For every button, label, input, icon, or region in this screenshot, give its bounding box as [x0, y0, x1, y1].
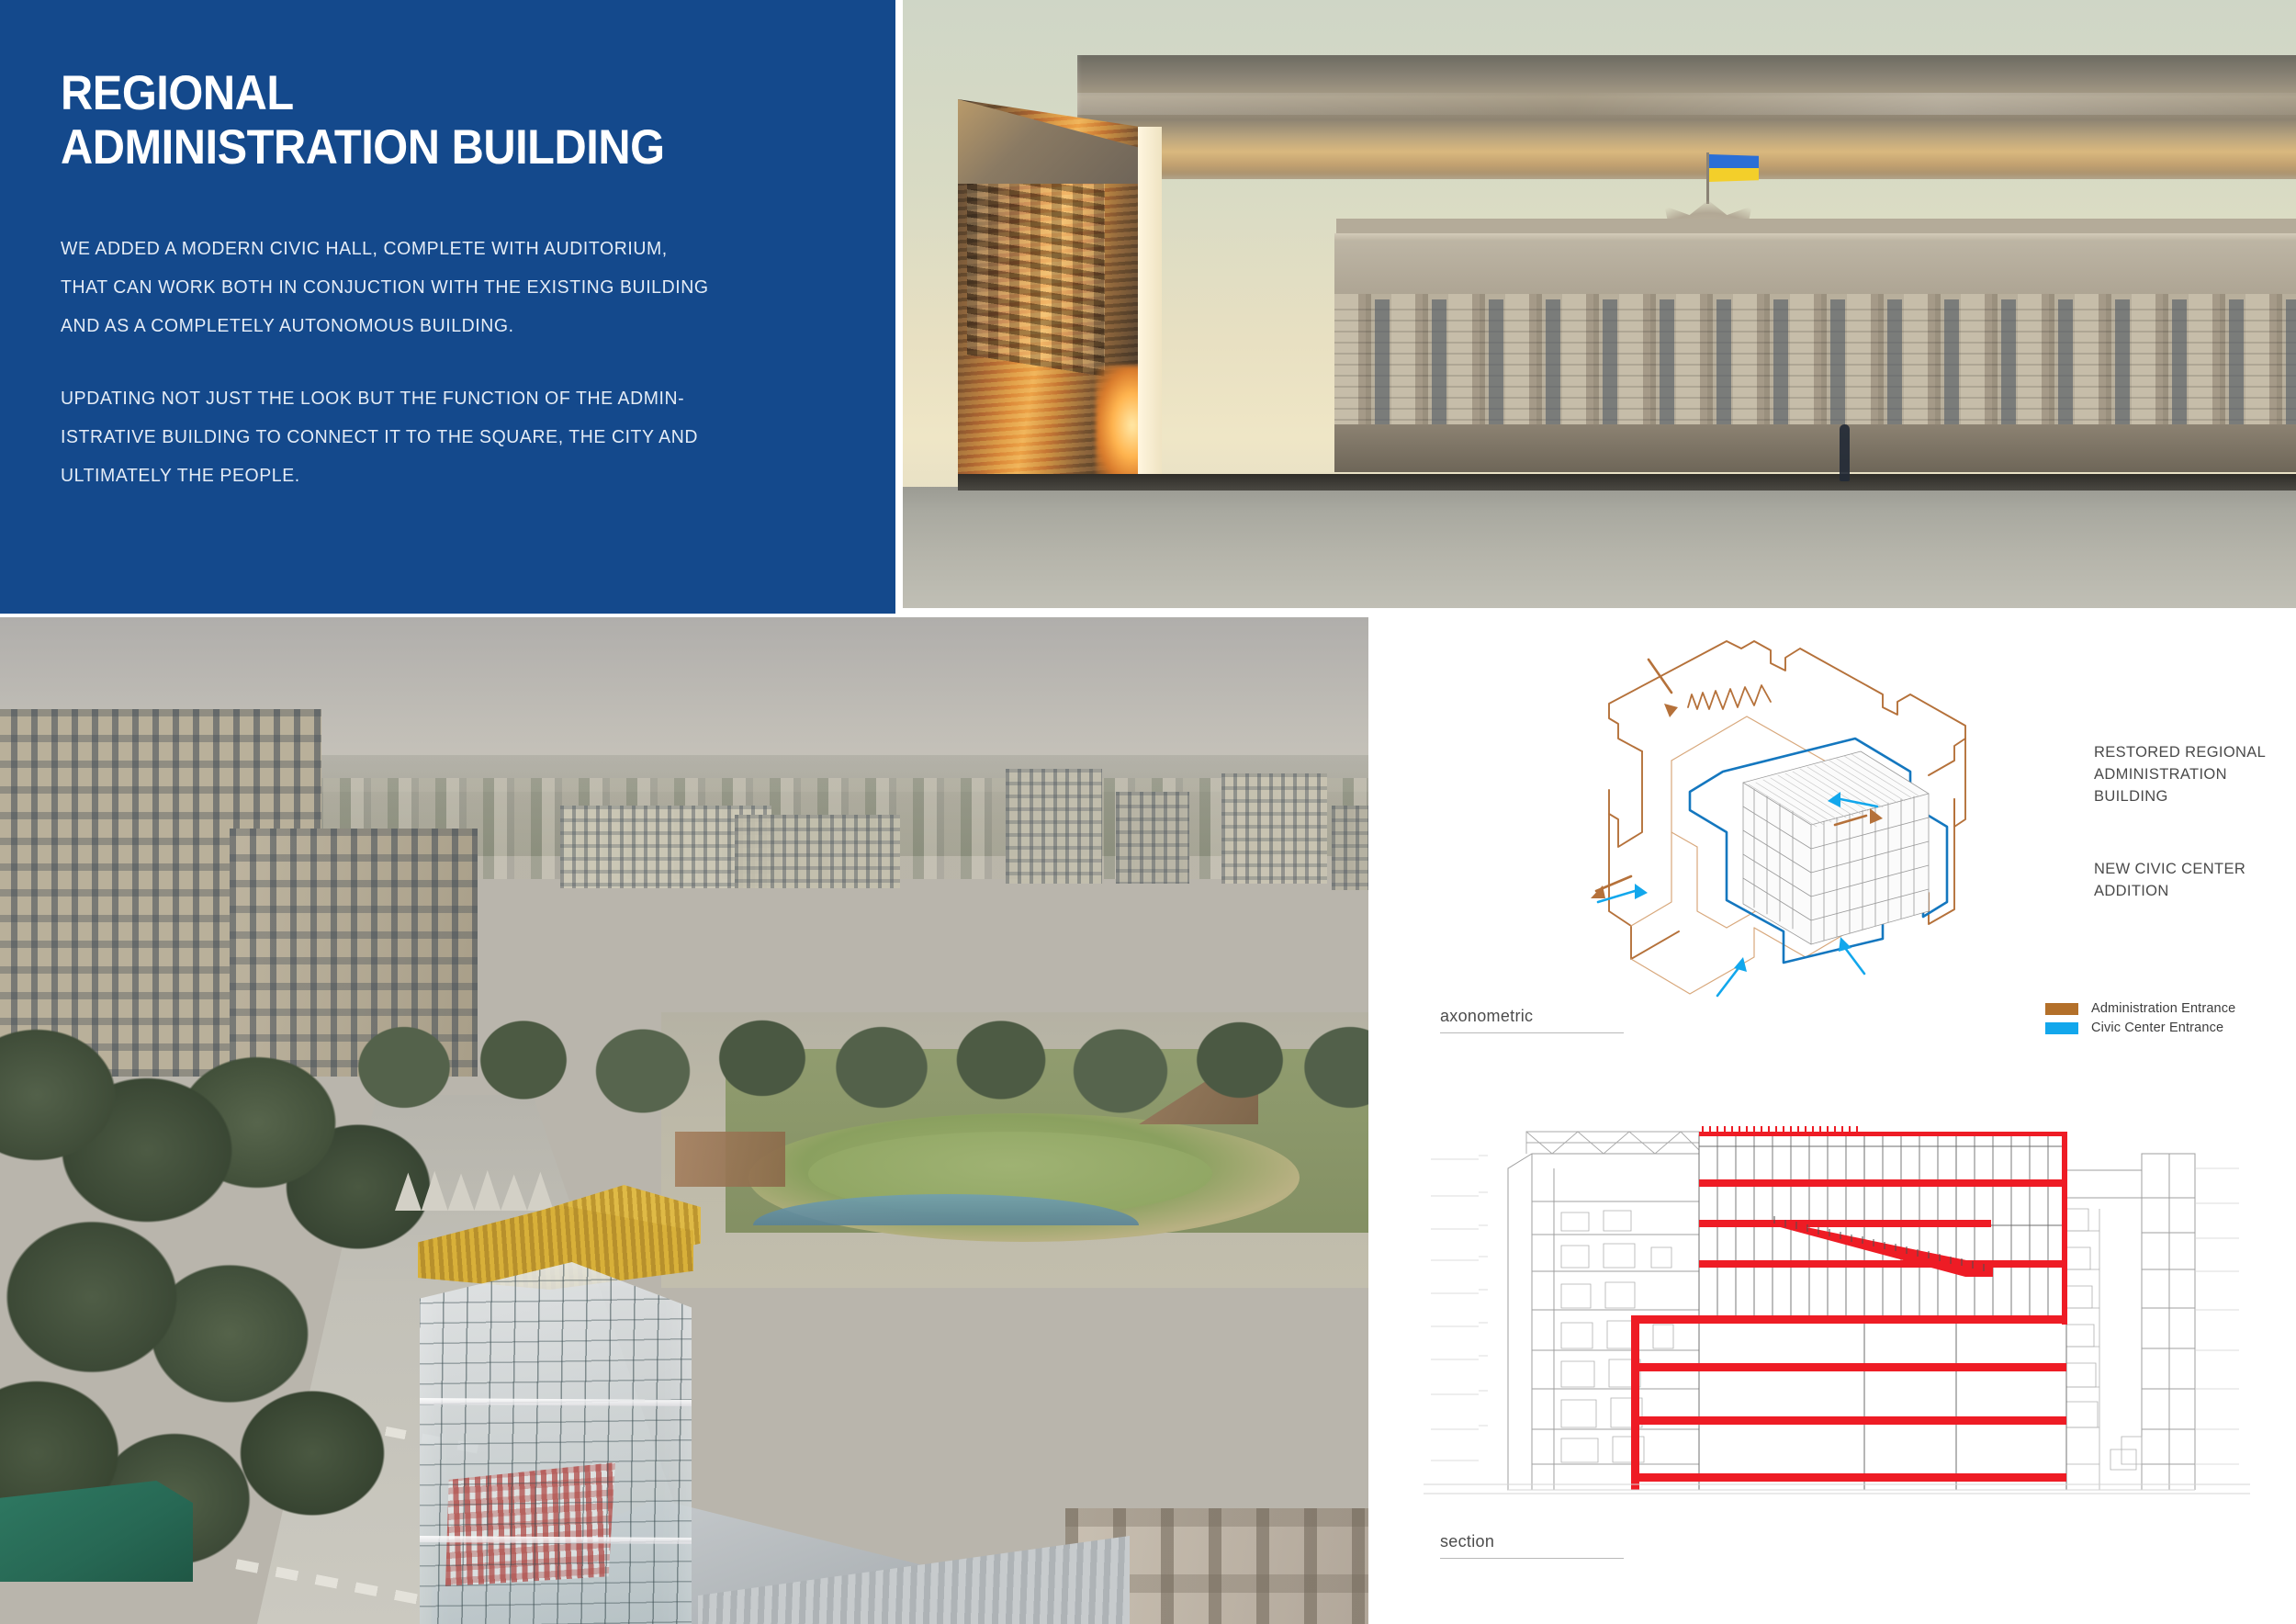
window-grid [1221, 773, 1327, 884]
title-line-2: ADMINISTRATION BUILDING [61, 120, 762, 175]
paragraph-1-line-2: THAT CAN WORK BOTH IN CONJUCTION WITH TH… [61, 268, 706, 307]
paragraph-2-line-2: ISTRATIVE BUILDING TO CONNECT IT TO THE … [61, 418, 706, 457]
aerial-render [0, 617, 1368, 1624]
background-building [1221, 773, 1327, 884]
caption-axonometric-label: axonometric [1440, 1007, 1533, 1025]
street-tree-row [349, 1003, 1368, 1132]
window-grid [1116, 792, 1189, 884]
legend-label-administration: Administration Entrance [2091, 1001, 2235, 1016]
description-paragraph-2: UPDATING NOT JUST THE LOOK BUT THE FUNCT… [61, 379, 706, 496]
legend-label-civic-center: Civic Center Entrance [2091, 1021, 2223, 1035]
facade-base [1334, 424, 2296, 472]
annotation-restored-building: RESTORED REGIONAL ADMINISTRATION BUILDIN… [2094, 742, 2296, 808]
background-building [1116, 792, 1189, 884]
facade-windows [1334, 299, 2296, 426]
green-roofed-pavilion [0, 1481, 193, 1582]
paragraph-1-line-1: WE ADDED A MODERN CIVIC HALL, COMPLETE W… [61, 230, 706, 268]
portal-lintel [1077, 55, 2296, 179]
mirrored-portal-render [903, 0, 2296, 608]
paragraph-2-line-1: UPDATING NOT JUST THE LOOK BUT THE FUNCT… [61, 379, 706, 418]
flagpole [1706, 152, 1709, 204]
description-block: WE ADDED A MODERN CIVIC HALL, COMPLETE W… [61, 230, 740, 495]
section-drawing [1424, 1113, 2250, 1499]
axonometric-drawing [1451, 636, 2094, 1003]
title-panel: REGIONAL ADMINISTRATION BUILDING WE ADDE… [0, 0, 895, 614]
caption-rule [1440, 1558, 1624, 1559]
portal-inner-edge-glow [1138, 127, 1162, 487]
caption-section-label: section [1440, 1532, 1494, 1551]
legend-swatch-civic-center [2045, 1022, 2078, 1034]
background-building [735, 815, 900, 888]
new-civic-center-glass-volume [418, 1205, 693, 1624]
background-building [1006, 769, 1102, 884]
ukrainian-flag-icon [1709, 154, 1759, 182]
retaining-wall [675, 1132, 785, 1187]
window-grid [1332, 806, 1368, 890]
presentation-board: REGIONAL ADMINISTRATION BUILDING WE ADDE… [0, 0, 2296, 1624]
legend-swatch-administration [2045, 1003, 2078, 1015]
facade-body [1334, 241, 2296, 432]
figure-silhouette [1840, 424, 1850, 481]
annotation-new-addition: NEW CIVIC CENTER ADDITION [2094, 859, 2296, 903]
entrance-legend: Administration Entrance Civic Center Ent… [2045, 1001, 2235, 1040]
plaza-ground [903, 487, 2296, 608]
window-grid [1006, 769, 1102, 884]
paragraph-2-line-3: ULTIMATELY THE PEOPLE. [61, 457, 706, 495]
caption-rule [1440, 1032, 1624, 1033]
portal-reflection-sheen [1077, 93, 2296, 115]
neoclassical-administration-building [1334, 200, 2296, 432]
legend-item-administration-entrance: Administration Entrance [2045, 1001, 2235, 1016]
caption-section: section [1440, 1532, 1494, 1551]
legend-item-civic-center-entrance: Civic Center Entrance [2045, 1021, 2235, 1035]
curtain-wall-mullion-grid [420, 1262, 692, 1624]
page-title: REGIONAL ADMINISTRATION BUILDING [61, 66, 823, 175]
caption-axonometric: axonometric [1440, 1007, 1533, 1026]
title-line-1: REGIONAL [61, 66, 762, 120]
paragraph-1-line-3: AND AS A COMPLETELY AUTONOMOUS BUILDING. [61, 307, 706, 345]
window-grid [735, 815, 900, 888]
description-paragraph-1: WE ADDED A MODERN CIVIC HALL, COMPLETE W… [61, 230, 706, 346]
background-building [1332, 806, 1368, 890]
portal-plinth [958, 474, 2296, 491]
